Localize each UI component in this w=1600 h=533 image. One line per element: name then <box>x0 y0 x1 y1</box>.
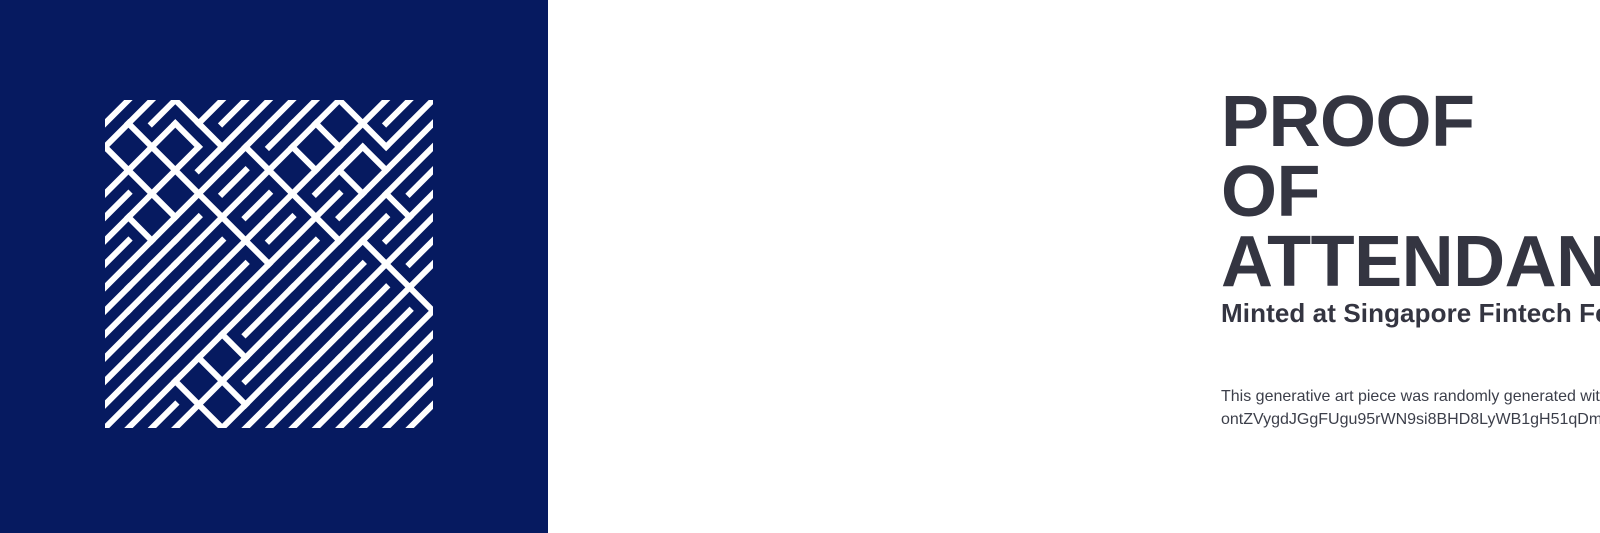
title-line-3: ATTENDANCE <box>1221 228 1600 298</box>
proof-of-attendance-certificate: PROOF OF ATTENDANCE Minted at Singapore … <box>0 0 1600 533</box>
hash-block: This generative art piece was randomly g… <box>1221 385 1600 431</box>
details-panel: PROOF OF ATTENDANCE Minted at Singapore … <box>548 0 1600 533</box>
title-line-2: OF <box>1221 158 1600 228</box>
generative-maze-artwork <box>105 100 433 428</box>
event-subtitle: Minted at Singapore Fintech Festival 202… <box>1221 298 1600 329</box>
artwork-panel <box>0 0 548 533</box>
page-title: PROOF OF ATTENDANCE <box>1221 88 1600 297</box>
hash-description: This generative art piece was randomly g… <box>1221 385 1600 408</box>
title-line-1: PROOF <box>1221 88 1600 158</box>
hash-value: ontZVygdJGgFUgu95rWN9si8BHD8LyWB1gH51qDm… <box>1221 408 1600 431</box>
